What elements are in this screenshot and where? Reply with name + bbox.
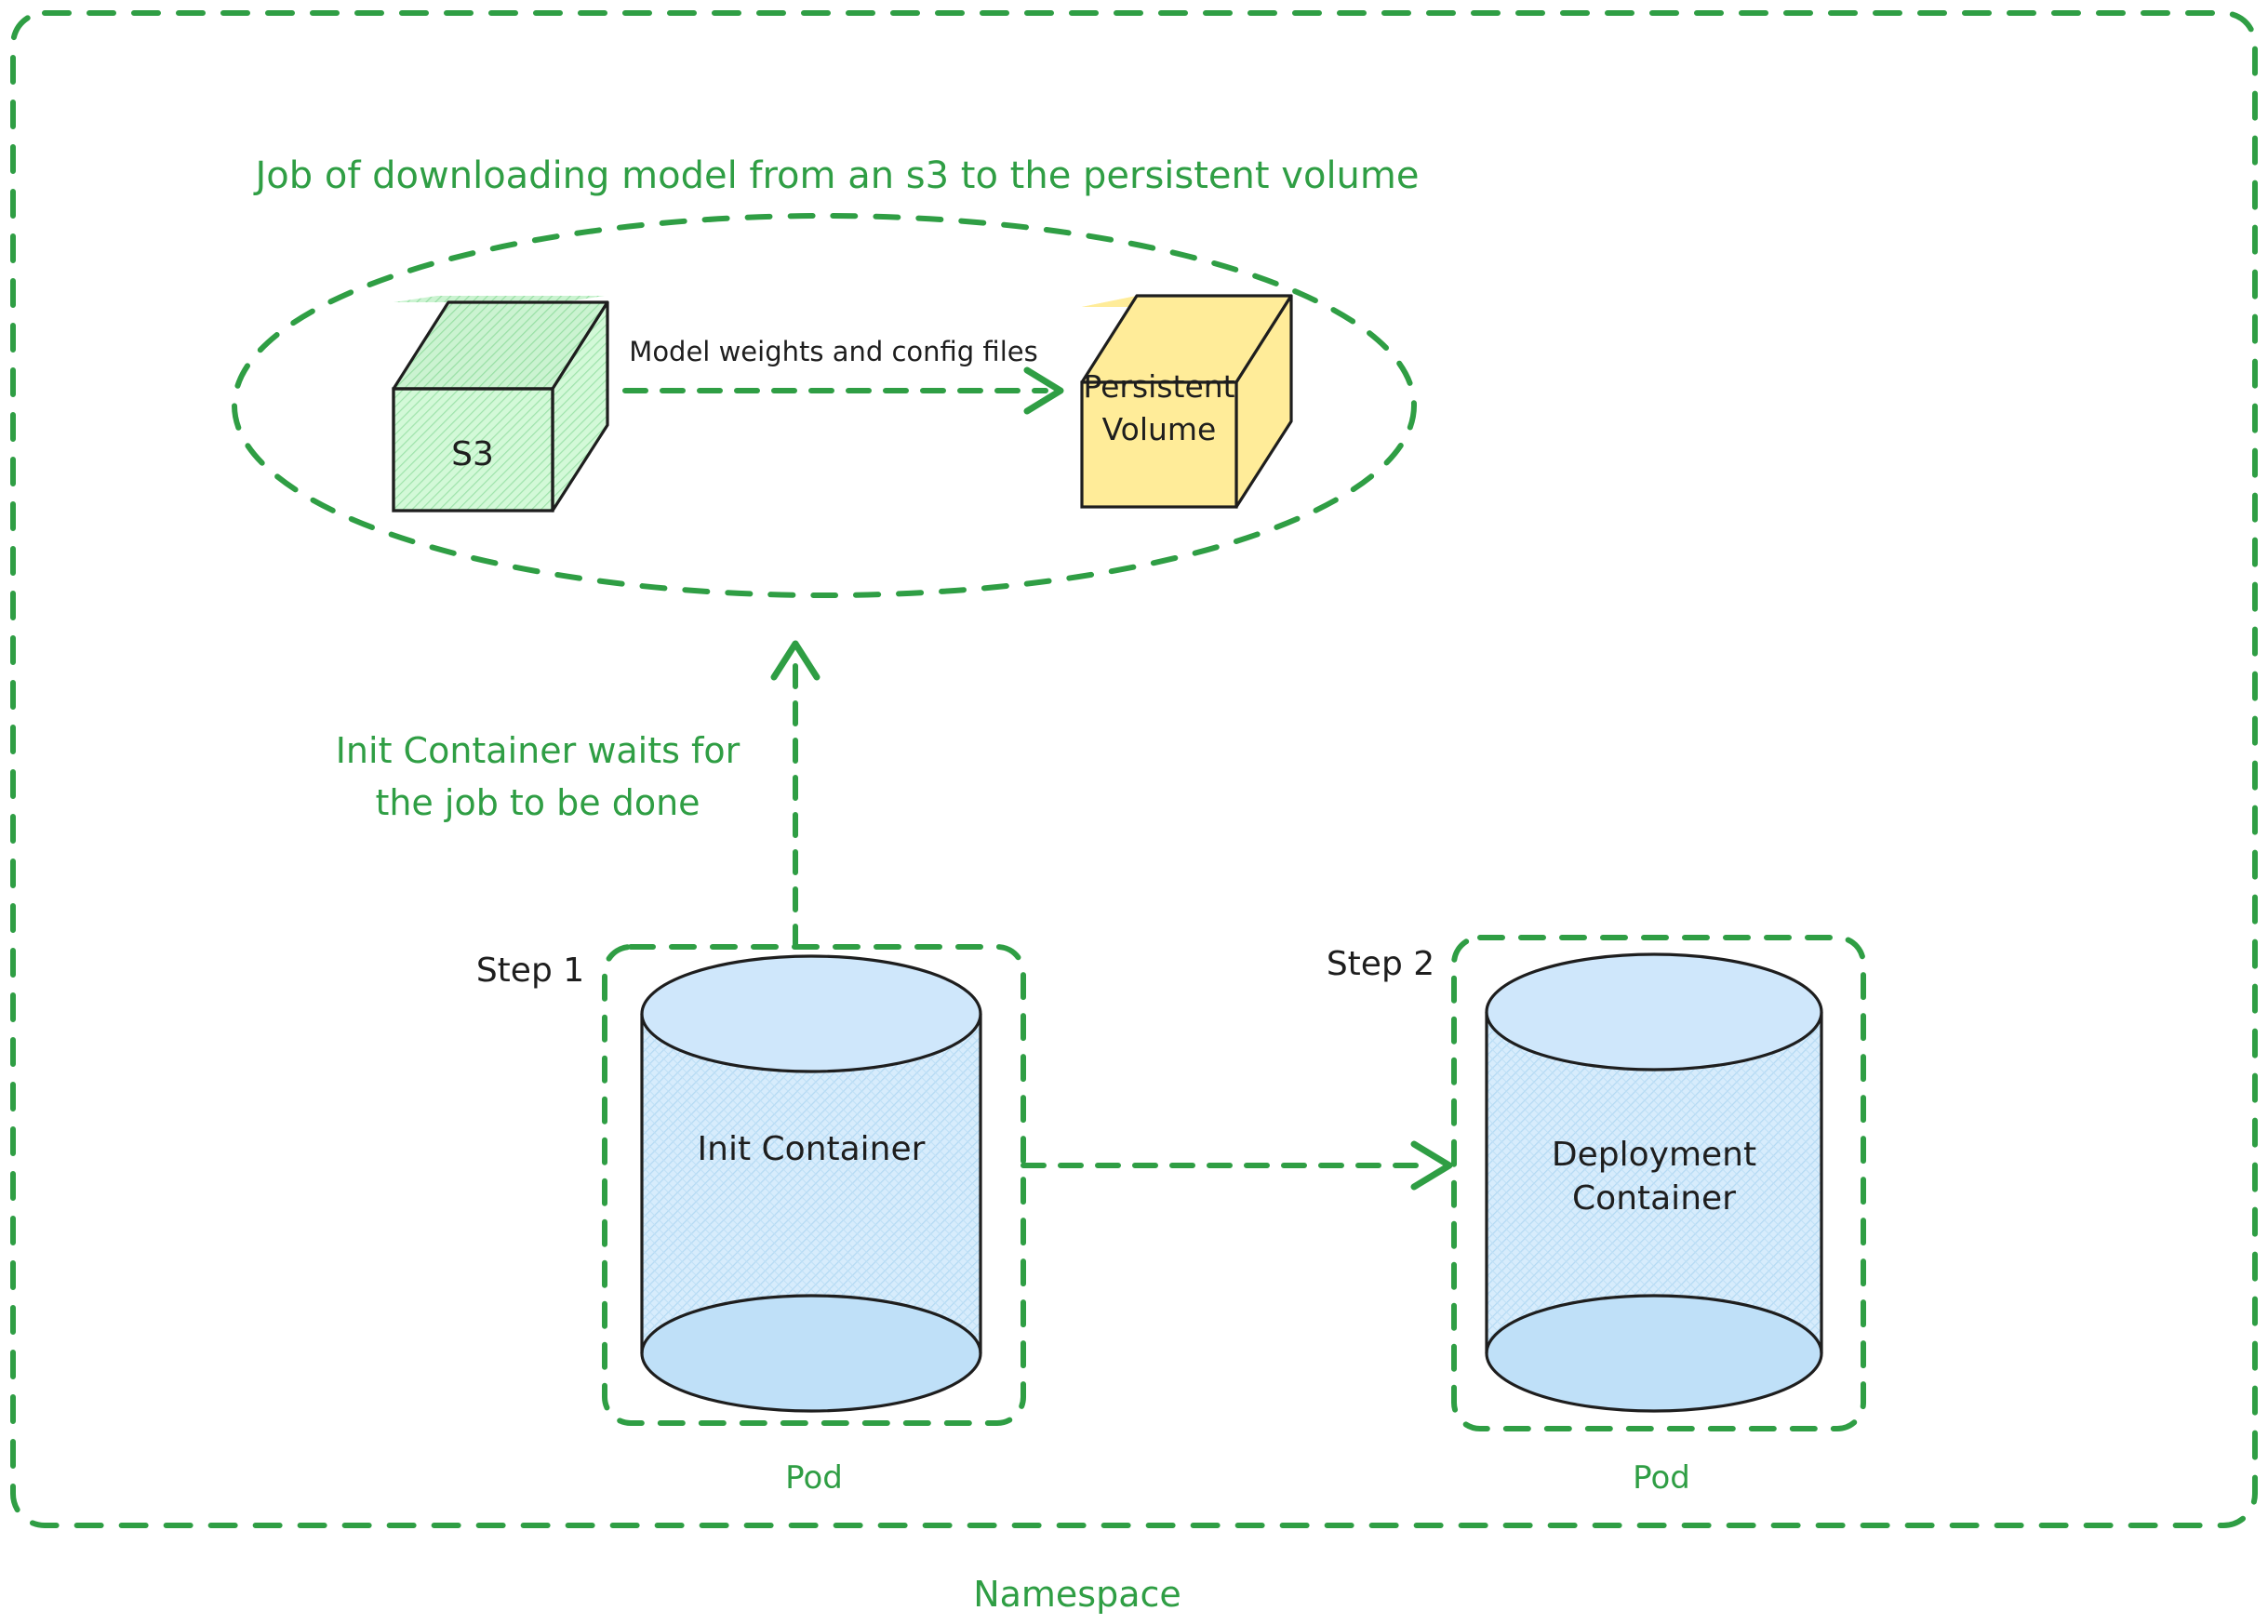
init-container-label: Init Container xyxy=(698,1130,926,1168)
pv-label-line2: Volume xyxy=(1102,411,1217,447)
pod-1-step-label: Step 1 xyxy=(476,952,584,990)
s3-cube: S3 xyxy=(394,296,607,511)
deployment-container-top xyxy=(1487,954,1821,1070)
init-container-cylinder: Init Container xyxy=(642,956,981,1411)
diagram-canvas: S3 Model weights and config files Persis… xyxy=(0,0,2268,1624)
job-group-caption: Job of downloading model from an s3 to t… xyxy=(253,154,1420,197)
namespace-label: Namespace xyxy=(973,1574,1181,1615)
diagram-svg: S3 Model weights and config files Persis… xyxy=(0,0,2268,1624)
init-wait-edge-label-line2: the job to be done xyxy=(375,782,700,823)
init-wait-edge xyxy=(774,644,817,947)
model-weights-edge xyxy=(625,370,1061,411)
pod1-to-pod2-edge xyxy=(1023,1144,1449,1187)
deployment-container-label-line1: Deployment xyxy=(1552,1136,1756,1174)
pod-1-label: Pod xyxy=(785,1459,843,1497)
pod-2-label: Pod xyxy=(1633,1459,1690,1497)
s3-label: S3 xyxy=(451,435,494,473)
init-container-top xyxy=(642,956,981,1072)
model-weights-edge-label: Model weights and config files xyxy=(629,336,1037,367)
deployment-container-label-line2: Container xyxy=(1572,1179,1736,1218)
pv-label-line1: Persistent xyxy=(1083,368,1234,405)
pod-2-step-label: Step 2 xyxy=(1327,945,1434,983)
persistent-volume-cube: Persistent Volume xyxy=(1082,296,1291,507)
init-wait-edge-label-line1: Init Container waits for xyxy=(336,730,740,771)
deployment-container-cylinder: Deployment Container xyxy=(1487,954,1821,1411)
